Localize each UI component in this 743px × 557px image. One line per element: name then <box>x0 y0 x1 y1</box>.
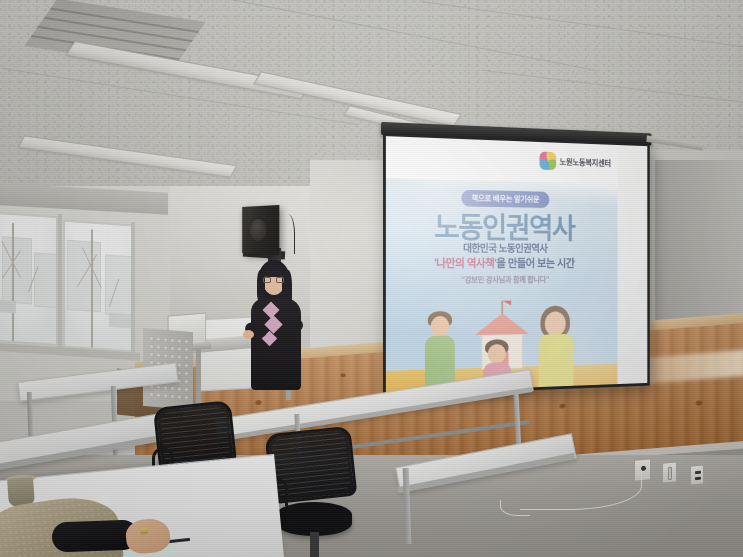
window-left <box>0 212 58 346</box>
organization-name: 노원노동복지센터 <box>559 156 610 169</box>
organization-logo: 노원노동복지센터 <box>539 152 610 172</box>
chair-stem <box>310 532 319 557</box>
slide-subtitle-line2: '나만의 역사책'을 만들어 보는 시간 <box>434 255 574 271</box>
window-mullion <box>131 222 135 354</box>
slide-subtitle-line1: 대한민국 노동인권역사 <box>463 241 547 256</box>
speaker-cone <box>250 219 267 241</box>
light-switch[interactable] <box>662 461 677 483</box>
wall-speaker <box>242 205 279 255</box>
house-roof <box>475 313 529 335</box>
house-flag-icon <box>502 301 511 311</box>
presenter-pattern <box>263 302 285 346</box>
presenter <box>243 258 313 390</box>
chair-seat <box>276 502 352 536</box>
window-mullion <box>58 214 62 352</box>
screen-border: 노원노동복지센터 책으로 배우는 알기쉬운 노동인권역사 대한민국 노동인권역사… <box>383 134 650 396</box>
slide-subtitle-highlight: '나만의 역사책' <box>434 258 496 270</box>
screen-surface: 노원노동복지센터 책으로 배우는 알기쉬운 노동인권역사 대한민국 노동인권역사… <box>386 136 647 393</box>
screen-unprojected-area <box>618 145 648 384</box>
projection-screen-assembly: 노원노동복지센터 책으로 배우는 알기쉬운 노동인권역사 대한민국 노동인권역사… <box>383 134 650 396</box>
speaker-wire <box>281 214 295 254</box>
presenter-hand <box>243 330 254 339</box>
classroom-photo: 노원노동복지센터 책으로 배우는 알기쉬운 노동인권역사 대한민국 노동인권역사… <box>0 0 743 557</box>
window-right <box>63 220 133 353</box>
slide-subtitle-line2-rest: 을 만들어 보는 시간 <box>496 258 574 270</box>
projected-slide: 노원노동복지센터 책으로 배우는 알기쉬운 노동인권역사 대한민국 노동인권역사… <box>386 136 618 393</box>
data-port[interactable] <box>690 464 704 485</box>
slide-instructor-note: "강보민 강사님과 함께 합니다" <box>462 275 549 286</box>
attendee-ring <box>140 527 149 534</box>
pinwheel-logo-icon <box>539 152 556 171</box>
lectern-leg <box>196 348 201 404</box>
presenter-glasses <box>263 277 285 284</box>
